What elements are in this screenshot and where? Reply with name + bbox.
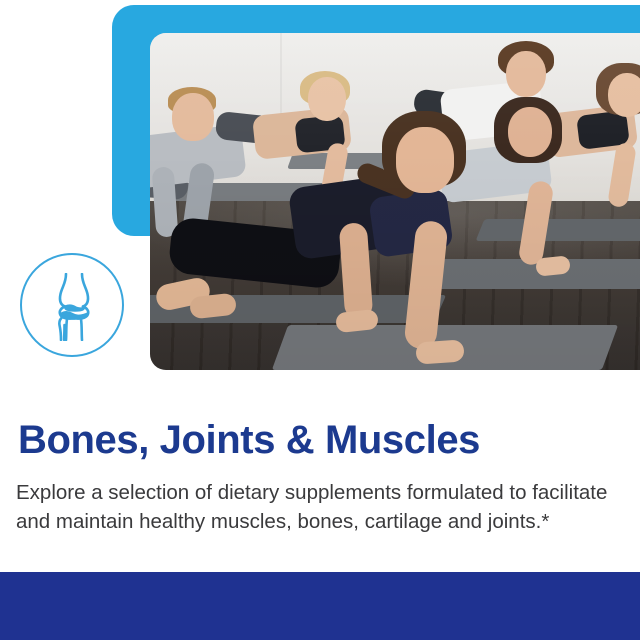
photo-shading-overlay [150,33,640,370]
knee-joint-icon [48,273,100,341]
joint-space-fill [61,311,89,320]
knee-joint-icon-badge [20,253,124,357]
page-description: Explore a selection of dietary supplemen… [16,478,620,536]
cartilage-fill [64,304,85,311]
promo-card: Bones, Joints & Muscles Explore a select… [0,0,640,640]
hero-photo [150,33,640,370]
page-title: Bones, Joints & Muscles [18,419,480,462]
footer-bar: *These statements have not been evaluate… [0,572,640,640]
